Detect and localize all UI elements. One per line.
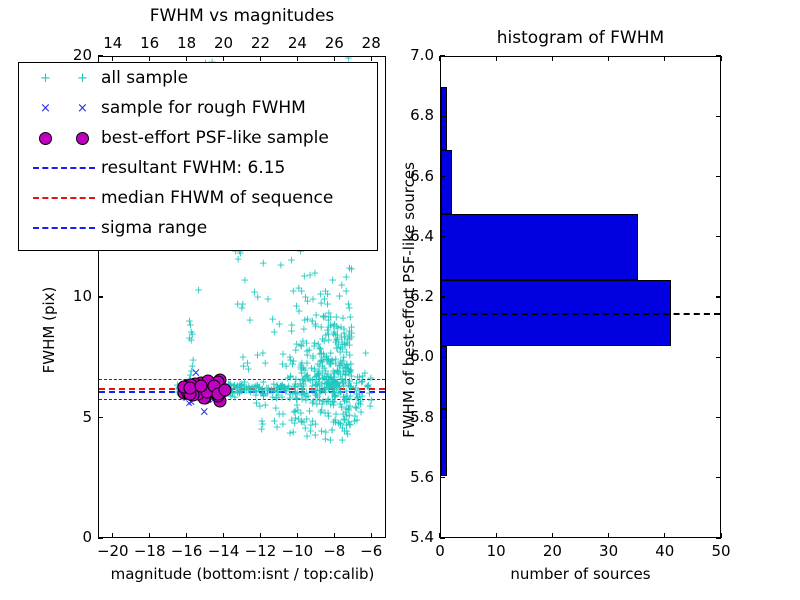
scatter-point-all-sample: + xyxy=(320,352,329,363)
scatter-point-all-sample: + xyxy=(301,376,310,387)
scatter-point-all-sample: + xyxy=(338,345,347,356)
scatter-point-all-sample: + xyxy=(314,339,323,350)
scatter-point-all-sample: + xyxy=(291,413,300,424)
scatter-point-all-sample: + xyxy=(337,323,346,334)
scatter-point-all-sample: + xyxy=(321,409,330,420)
scatter-point-all-sample: + xyxy=(331,415,340,426)
scatter-point-all-sample: + xyxy=(297,365,306,376)
scatter-ytick xyxy=(98,537,103,538)
scatter-point-all-sample: + xyxy=(301,293,310,304)
scatter-point-all-sample: + xyxy=(188,330,197,341)
scatter-point-all-sample: + xyxy=(322,355,331,366)
histogram-xlabel: number of sources xyxy=(440,565,721,583)
histogram-ytick-right xyxy=(716,236,721,237)
scatter-point-all-sample: + xyxy=(287,416,296,427)
scatter-point-all-sample: + xyxy=(323,299,332,310)
scatter-xtick xyxy=(260,533,261,538)
scatter-point-all-sample: + xyxy=(353,372,362,383)
scatter-point-all-sample: + xyxy=(309,396,318,407)
scatter-point-all-sample: + xyxy=(328,276,337,287)
scatter-point-all-sample: + xyxy=(314,360,323,371)
scatter-point-all-sample: + xyxy=(324,396,333,407)
scatter-point-all-sample: + xyxy=(250,287,259,298)
histogram-ytick-label: 5.6 xyxy=(392,468,434,486)
scatter-point-all-sample: + xyxy=(275,410,284,421)
scatter-point-all-sample: + xyxy=(342,367,351,378)
scatter-point-all-sample: + xyxy=(332,343,341,354)
scatter-point-all-sample: + xyxy=(333,367,342,378)
scatter-point-all-sample: + xyxy=(343,339,352,350)
scatter-point-all-sample: + xyxy=(188,361,197,372)
scatter-ytick xyxy=(98,296,103,297)
scatter-point-all-sample: + xyxy=(278,392,287,403)
legend-item-3: resultant FWHM: 6.15 xyxy=(19,153,377,183)
scatter-point-all-sample: + xyxy=(342,286,351,297)
scatter-point-all-sample: + xyxy=(331,392,340,403)
histogram-ytick xyxy=(440,417,445,418)
scatter-point-all-sample: + xyxy=(339,392,348,403)
scatter-point-all-sample: + xyxy=(338,435,347,446)
scatter-point-all-sample: + xyxy=(333,331,342,342)
scatter-point-all-sample: + xyxy=(339,357,348,368)
scatter-point-all-sample: + xyxy=(340,416,349,427)
scatter-point-all-sample: + xyxy=(233,300,242,311)
scatter-top-xtick-label: 28 xyxy=(351,34,391,52)
scatter-point-all-sample: + xyxy=(324,329,333,340)
scatter-point-all-sample: + xyxy=(329,417,338,428)
scatter-point-all-sample: + xyxy=(309,295,318,306)
scatter-point-all-sample: + xyxy=(289,428,298,439)
reference-line-0 xyxy=(99,391,385,393)
scatter-point-all-sample: + xyxy=(318,400,327,411)
scatter-point-all-sample: + xyxy=(347,323,356,334)
histogram-bar xyxy=(441,214,638,280)
scatter-point-all-sample: + xyxy=(324,336,333,347)
scatter-point-all-sample: + xyxy=(328,376,337,387)
scatter-point-all-sample: + xyxy=(344,403,353,414)
histogram-xtick xyxy=(664,533,665,538)
scatter-point-all-sample: + xyxy=(345,402,354,413)
histogram-ytick-right xyxy=(716,296,721,297)
scatter-point-all-sample: + xyxy=(311,431,320,442)
scatter-point-all-sample: + xyxy=(302,414,311,425)
scatter-point-all-sample: + xyxy=(329,329,338,340)
scatter-point-all-sample: + xyxy=(312,311,321,322)
scatter-point-all-sample: + xyxy=(345,303,354,314)
scatter-point-all-sample: + xyxy=(328,356,337,367)
histogram-xtick-label: 50 xyxy=(701,542,741,560)
reference-line-3 xyxy=(99,399,385,400)
scatter-point-all-sample: + xyxy=(294,283,303,294)
scatter-point-rough-sample: × xyxy=(199,407,209,418)
scatter-point-all-sample: + xyxy=(331,355,340,366)
scatter-point-all-sample: + xyxy=(327,375,336,386)
legend-item-0: ++all sample xyxy=(19,63,377,93)
scatter-top-xtick xyxy=(112,56,113,61)
scatter-point-all-sample: + xyxy=(343,334,352,345)
scatter-xtick xyxy=(297,533,298,538)
scatter-point-all-sample: + xyxy=(331,391,340,402)
histogram-ytick xyxy=(440,236,445,237)
scatter-top-xtick xyxy=(334,56,335,61)
scatter-top-xtick xyxy=(260,56,261,61)
scatter-xtick xyxy=(371,533,372,538)
scatter-point-all-sample: + xyxy=(303,297,312,308)
histogram-title: histogram of FWHM xyxy=(440,28,721,48)
legend-key xyxy=(27,132,101,145)
scatter-point-all-sample: + xyxy=(323,326,332,337)
scatter-point-all-sample: + xyxy=(316,344,325,355)
scatter-point-all-sample: + xyxy=(282,361,291,372)
scatter-point-all-sample: + xyxy=(238,299,247,310)
scatter-point-all-sample: + xyxy=(327,372,336,383)
scatter-point-all-sample: + xyxy=(297,369,306,380)
scatter-point-all-sample: + xyxy=(319,312,328,323)
scatter-point-all-sample: + xyxy=(245,315,254,326)
scatter-point-all-sample: + xyxy=(315,349,324,360)
scatter-point-all-sample: + xyxy=(347,332,356,343)
scatter-point-all-sample: + xyxy=(335,291,344,302)
scatter-point-all-sample: + xyxy=(302,372,311,383)
scatter-point-all-sample: + xyxy=(340,329,349,340)
scatter-point-all-sample: + xyxy=(324,408,333,419)
histogram-ytick xyxy=(440,296,445,297)
scatter-xlabel: magnitude (bottom:isnt / top:calib) xyxy=(60,565,425,583)
legend: ++all sample××sample for rough FWHMbest-… xyxy=(18,62,378,251)
scatter-point-all-sample: + xyxy=(303,347,312,358)
scatter-point-all-sample: + xyxy=(324,322,333,333)
scatter-point-all-sample: + xyxy=(341,408,350,419)
scatter-point-all-sample: + xyxy=(322,351,331,362)
scatter-point-all-sample: + xyxy=(292,339,301,350)
scatter-point-all-sample: + xyxy=(317,406,326,417)
scatter-point-all-sample: + xyxy=(278,359,287,370)
scatter-point-all-sample: + xyxy=(344,299,353,310)
scatter-point-all-sample: + xyxy=(299,324,308,335)
scatter-point-all-sample: + xyxy=(321,435,330,446)
scatter-point-all-sample: + xyxy=(261,400,270,411)
scatter-point-all-sample: + xyxy=(291,346,300,357)
scatter-point-all-sample: + xyxy=(291,407,300,418)
histogram-top-xtick xyxy=(720,56,721,61)
scatter-point-all-sample: + xyxy=(315,361,324,372)
scatter-point-all-sample: + xyxy=(337,402,346,413)
scatter-point-all-sample: + xyxy=(328,426,337,437)
scatter-point-all-sample: + xyxy=(347,371,356,382)
scatter-point-all-sample: + xyxy=(290,418,299,429)
histogram-ytick xyxy=(440,477,445,478)
histogram-bar xyxy=(441,150,452,213)
scatter-top-xtick xyxy=(149,56,150,61)
scatter-point-all-sample: + xyxy=(336,419,345,430)
reference-line-1 xyxy=(99,388,385,390)
scatter-point-all-sample: + xyxy=(319,349,328,360)
legend-item-label: best-effort PSF-like sample xyxy=(101,128,329,148)
scatter-point-all-sample: + xyxy=(336,348,345,359)
histogram-ytick-label: 7.0 xyxy=(392,46,434,64)
scatter-point-all-sample: + xyxy=(187,327,196,338)
scatter-title: FWHM vs magnitudes xyxy=(98,6,386,26)
scatter-point-all-sample: + xyxy=(257,417,266,428)
scatter-point-all-sample: + xyxy=(187,366,196,377)
histogram-xtick xyxy=(608,533,609,538)
reference-line-2 xyxy=(99,379,385,380)
histogram-ytick-right xyxy=(716,176,721,177)
scatter-point-all-sample: + xyxy=(343,429,352,440)
scatter-point-all-sample: + xyxy=(338,337,347,348)
histogram-ytick-label: 6.0 xyxy=(392,347,434,365)
scatter-point-all-sample: + xyxy=(300,417,309,428)
scatter-point-all-sample: + xyxy=(361,368,370,379)
scatter-point-all-sample: + xyxy=(309,351,318,362)
scatter-point-all-sample: + xyxy=(329,373,338,384)
scatter-ytick-label: 5 xyxy=(52,408,92,426)
scatter-point-all-sample: + xyxy=(326,399,335,410)
scatter-point-all-sample: + xyxy=(332,313,341,324)
scatter-point-all-sample: + xyxy=(321,330,330,341)
scatter-point-all-sample: + xyxy=(277,261,286,272)
scatter-point-all-sample: + xyxy=(343,359,352,370)
legend-key xyxy=(27,227,101,229)
scatter-point-all-sample: + xyxy=(324,412,333,423)
scatter-point-all-sample: + xyxy=(336,343,345,354)
scatter-point-all-sample: + xyxy=(319,312,328,323)
scatter-point-all-sample: + xyxy=(323,290,332,301)
scatter-point-all-sample: + xyxy=(345,420,354,431)
scatter-point-all-sample: + xyxy=(346,368,355,379)
scatter-point-all-sample: + xyxy=(336,357,345,368)
scatter-point-all-sample: + xyxy=(333,343,342,354)
scatter-point-all-sample: + xyxy=(323,355,332,366)
scatter-point-all-sample: + xyxy=(279,349,288,360)
scatter-point-all-sample: + xyxy=(345,327,354,338)
scatter-point-all-sample: + xyxy=(337,359,346,370)
figure-canvas: ++++++++++++++++++++++++++++++++++++++++… xyxy=(0,0,800,600)
legend-item-4: median FHWM of sequence xyxy=(19,183,377,213)
scatter-point-all-sample: + xyxy=(330,328,339,339)
scatter-top-xtick-label: 14 xyxy=(93,34,133,52)
scatter-point-all-sample: + xyxy=(243,358,252,369)
scatter-point-all-sample: + xyxy=(332,335,341,346)
scatter-point-all-sample: + xyxy=(264,294,273,305)
scatter-point-all-sample: + xyxy=(367,396,376,407)
scatter-point-all-sample: + xyxy=(300,316,309,327)
scatter-point-all-sample: + xyxy=(318,358,327,369)
scatter-point-all-sample: + xyxy=(343,364,352,375)
scatter-point-all-sample: + xyxy=(330,373,339,384)
scatter-top-xtick-label: 20 xyxy=(204,34,244,52)
scatter-point-all-sample: + xyxy=(345,351,354,362)
scatter-point-all-sample: + xyxy=(303,351,312,362)
scatter-point-all-sample: + xyxy=(326,359,335,370)
scatter-point-all-sample: + xyxy=(320,294,329,305)
scatter-point-all-sample: + xyxy=(259,259,268,270)
histogram-data-layer xyxy=(441,57,720,537)
scatter-point-all-sample: + xyxy=(326,373,335,384)
scatter-point-all-sample: + xyxy=(296,409,305,420)
scatter-point-all-sample: + xyxy=(315,395,324,406)
scatter-point-all-sample: + xyxy=(344,418,353,429)
scatter-point-all-sample: + xyxy=(329,321,338,332)
scatter-point-all-sample: + xyxy=(350,417,359,428)
scatter-point-all-sample: + xyxy=(311,320,320,331)
scatter-point-all-sample: + xyxy=(301,365,310,376)
legend-item-label: all sample xyxy=(101,68,188,88)
scatter-point-all-sample: + xyxy=(319,396,328,407)
scatter-point-all-sample: + xyxy=(311,269,320,280)
scatter-point-all-sample: + xyxy=(185,317,194,328)
scatter-point-all-sample: + xyxy=(289,357,298,368)
scatter-point-all-sample: + xyxy=(346,420,355,431)
scatter-point-all-sample: + xyxy=(337,280,346,291)
histogram-ytick-label: 6.2 xyxy=(392,287,434,305)
scatter-point-all-sample: + xyxy=(331,418,340,429)
scatter-point-all-sample: + xyxy=(346,360,355,371)
scatter-point-all-sample: + xyxy=(366,402,375,413)
scatter-point-all-sample: + xyxy=(308,375,317,386)
legend-item-1: ××sample for rough FWHM xyxy=(19,93,377,123)
scatter-point-all-sample: + xyxy=(310,372,319,383)
scatter-point-all-sample: + xyxy=(344,367,353,378)
scatter-point-all-sample: + xyxy=(308,417,317,428)
scatter-top-xtick-label: 18 xyxy=(167,34,207,52)
histogram-top-xtick xyxy=(439,56,440,61)
scatter-point-all-sample: + xyxy=(344,365,353,376)
scatter-ytick-label: 10 xyxy=(52,287,92,305)
scatter-point-all-sample: + xyxy=(186,320,195,331)
scatter-point-all-sample: + xyxy=(356,400,365,411)
scatter-point-all-sample: + xyxy=(297,359,306,370)
circle-icon xyxy=(39,132,52,145)
scatter-point-all-sample: + xyxy=(340,427,349,438)
histogram-ytick-right xyxy=(716,357,721,358)
scatter-xtick-label: −6 xyxy=(349,542,393,560)
histogram-ytick-label: 6.6 xyxy=(392,167,434,185)
scatter-point-all-sample: + xyxy=(308,316,317,327)
scatter-point-all-sample: + xyxy=(271,403,280,414)
scatter-point-all-sample: + xyxy=(332,322,341,333)
histogram-ytick-label: 5.4 xyxy=(392,528,434,546)
scatter-point-all-sample: + xyxy=(339,364,348,375)
scatter-point-all-sample: + xyxy=(303,431,312,442)
scatter-point-all-sample: + xyxy=(345,377,354,388)
histogram-top-xtick xyxy=(496,56,497,61)
scatter-point-all-sample: + xyxy=(317,298,326,309)
scatter-point-all-sample: + xyxy=(308,317,317,328)
scatter-point-all-sample: + xyxy=(342,360,351,371)
scatter-xtick xyxy=(186,533,187,538)
scatter-point-all-sample: + xyxy=(310,338,319,349)
histogram-median-line-0 xyxy=(441,313,720,315)
scatter-point-all-sample: + xyxy=(307,421,316,432)
histogram-ytick-right xyxy=(716,417,721,418)
cross-icon: × xyxy=(77,102,88,115)
scatter-point-all-sample: + xyxy=(194,285,203,296)
scatter-point-all-sample: + xyxy=(317,427,326,438)
scatter-point-all-sample: + xyxy=(338,423,347,434)
scatter-point-all-sample: + xyxy=(253,293,262,304)
histogram-bar xyxy=(441,409,447,475)
scatter-point-all-sample: + xyxy=(305,406,314,417)
scatter-point-all-sample: + xyxy=(290,408,299,419)
scatter-point-all-sample: + xyxy=(307,364,316,375)
scatter-top-xtick xyxy=(186,56,187,61)
histogram-xtick-label: 40 xyxy=(645,542,685,560)
scatter-point-all-sample: + xyxy=(339,352,348,363)
scatter-top-xtick-label: 16 xyxy=(130,34,170,52)
scatter-point-all-sample: + xyxy=(345,330,354,341)
histogram-bar xyxy=(441,87,447,150)
scatter-point-all-sample: + xyxy=(306,426,315,437)
scatter-point-all-sample: + xyxy=(336,362,345,373)
scatter-point-all-sample: + xyxy=(343,391,352,402)
scatter-point-all-sample: + xyxy=(297,417,306,428)
scatter-point-all-sample: + xyxy=(301,395,310,406)
scatter-point-all-sample: + xyxy=(341,363,350,374)
scatter-point-all-sample: + xyxy=(324,315,333,326)
scatter-point-all-sample: + xyxy=(339,367,348,378)
scatter-point-all-sample: + xyxy=(185,333,194,344)
scatter-point-all-sample: + xyxy=(300,272,309,283)
scatter-point-all-sample: + xyxy=(320,372,329,383)
histogram-top-xtick xyxy=(552,56,553,61)
scatter-point-all-sample: + xyxy=(325,309,334,320)
scatter-point-all-sample: + xyxy=(344,405,353,416)
scatter-point-psf-sample xyxy=(195,379,208,392)
scatter-point-all-sample: + xyxy=(293,401,302,412)
scatter-point-all-sample: + xyxy=(318,335,327,346)
scatter-point-all-sample: + xyxy=(287,256,296,267)
scatter-point-all-sample: + xyxy=(321,427,330,438)
scatter-point-all-sample: + xyxy=(321,366,330,377)
cross-icon: × xyxy=(40,102,51,115)
scatter-point-all-sample: + xyxy=(294,414,303,425)
scatter-point-all-sample: + xyxy=(345,410,354,421)
legend-item-label: resultant FWHM: 6.15 xyxy=(101,158,285,178)
scatter-point-all-sample: + xyxy=(275,319,284,330)
scatter-point-all-sample: + xyxy=(330,393,339,404)
scatter-point-all-sample: + xyxy=(261,358,270,369)
plus-icon: + xyxy=(77,72,88,85)
scatter-point-all-sample: + xyxy=(336,399,345,410)
scatter-point-all-sample: + xyxy=(297,360,306,371)
scatter-point-all-sample: + xyxy=(328,426,337,437)
legend-key: ++ xyxy=(27,72,101,85)
scatter-point-all-sample: + xyxy=(231,393,240,404)
scatter-point-all-sample: + xyxy=(298,336,307,347)
histogram-top-xtick xyxy=(608,56,609,61)
scatter-point-all-sample: + xyxy=(346,312,355,323)
scatter-point-all-sample: + xyxy=(345,367,354,378)
dashdot-blue-line-icon xyxy=(33,227,95,229)
scatter-xtick xyxy=(334,533,335,538)
scatter-point-all-sample: + xyxy=(273,422,282,433)
scatter-ytick-label: 0 xyxy=(52,528,92,546)
scatter-point-all-sample: + xyxy=(286,428,295,439)
scatter-point-all-sample: + xyxy=(334,419,343,430)
scatter-point-all-sample: + xyxy=(312,399,321,410)
histogram-ytick xyxy=(440,55,445,56)
scatter-point-all-sample: + xyxy=(305,346,314,357)
scatter-point-all-sample: + xyxy=(335,361,344,372)
scatter-point-all-sample: + xyxy=(270,327,279,338)
legend-key: ×× xyxy=(27,102,101,115)
scatter-point-all-sample: + xyxy=(342,411,351,422)
scatter-point-all-sample: + xyxy=(326,436,335,447)
histogram-xtick-label: 10 xyxy=(476,542,516,560)
scatter-point-all-sample: + xyxy=(257,425,266,436)
scatter-point-all-sample: + xyxy=(287,321,296,332)
